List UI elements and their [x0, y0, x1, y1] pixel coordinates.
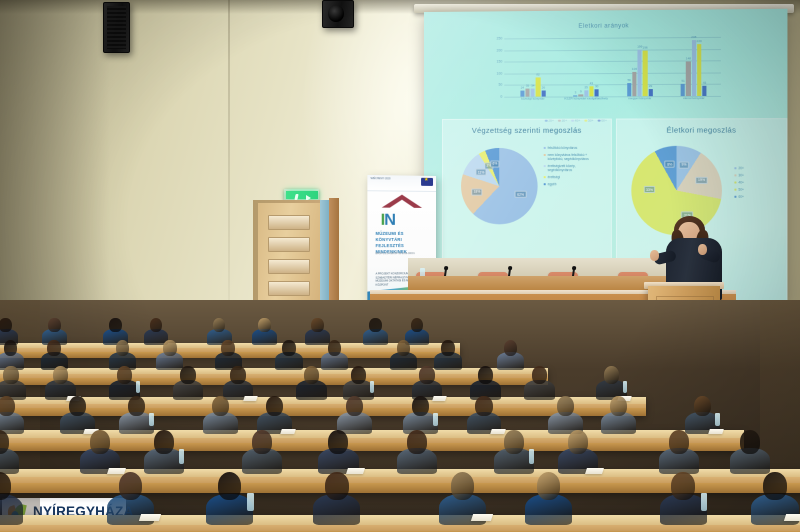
audience-member-head: [4, 340, 18, 356]
water-bottle: [433, 413, 438, 426]
category-label: városi könyvtár: [667, 97, 721, 110]
audience-member-head: [346, 396, 363, 416]
bar-value-label: 30: [595, 84, 598, 88]
water-bottle: [179, 449, 184, 464]
bar-value-label: 26: [542, 85, 545, 89]
running-man-icon: [294, 194, 298, 200]
y-axis-tick: 200: [484, 48, 502, 52]
pie-slice-label: 11%: [475, 169, 486, 176]
audience-member-head: [504, 430, 524, 454]
audience-member-head: [671, 472, 695, 500]
audience-member-head: [351, 366, 366, 384]
water-bottle: [149, 413, 154, 426]
audience-member-head: [419, 366, 434, 384]
bar-group: 2435348226: [520, 38, 545, 97]
pie-legend-item: nem könyvtáros felsőfokú + középfokú, se…: [544, 153, 601, 161]
audience-member-head: [604, 366, 619, 384]
audience-member-head: [504, 340, 518, 356]
audience-member-head: [3, 366, 18, 384]
eu-flag-icon: [421, 178, 433, 186]
legend-swatch: [544, 183, 546, 185]
desk-surface: [0, 368, 548, 374]
pie-slice-label: 33%: [643, 186, 655, 193]
brand-letter-n: N: [384, 212, 395, 229]
wall-seam: [228, 0, 230, 318]
wall-left-shadow: [0, 0, 110, 330]
pie-legend-item: 30+: [734, 173, 744, 177]
audience-member-head: [117, 366, 132, 384]
audience-member-head: [369, 318, 381, 332]
handout-paper: [139, 514, 161, 521]
water-bottle: [136, 381, 140, 393]
bar-value-label: 35: [526, 83, 529, 87]
bar-value-label: 196: [643, 45, 648, 49]
audience-desk-row: [0, 397, 646, 416]
legend-label: nem könyvtáros felsőfokú + középfokú, se…: [548, 153, 601, 161]
bar: 34: [531, 89, 535, 97]
bar-value-label: 43: [703, 81, 706, 85]
audience-member-head: [69, 396, 86, 416]
audience-member-head: [740, 430, 760, 454]
legend-label: egyéb: [548, 182, 557, 186]
audience-member-head: [221, 340, 235, 356]
legend-label: 30+: [738, 173, 744, 177]
speaker-grille: [107, 6, 126, 49]
handout-paper: [708, 429, 724, 434]
legend-label: 50+: [738, 188, 744, 192]
audience-member-head: [328, 430, 348, 454]
audience-member-head: [53, 366, 68, 384]
house-roof-inner: [387, 200, 417, 210]
audience-member-head: [230, 366, 245, 384]
door-panel: [268, 215, 310, 230]
audience-member-head: [325, 472, 349, 500]
y-axis-tick: 250: [484, 36, 502, 40]
pie-left-title: Végzettség szerinti megoszlás: [443, 126, 611, 135]
bar: 51: [681, 84, 685, 96]
legend-swatch: [734, 167, 736, 169]
presenter-hand-right: [698, 244, 707, 255]
presenter-hand-left: [650, 250, 659, 261]
audience-member-head: [532, 366, 547, 384]
y-axis-tick: 100: [484, 71, 502, 75]
audience-member-head: [475, 396, 492, 416]
bar: 238: [692, 40, 696, 96]
door-panel: [268, 259, 310, 274]
pie-legend-item: 50+: [734, 188, 744, 192]
desk-front: [0, 408, 646, 416]
pie-legend-item: 60+: [734, 195, 744, 199]
audience-member-head: [282, 340, 296, 356]
bar-group: 39254330: [573, 38, 598, 97]
bar-value-label: 9: [580, 89, 582, 93]
bar: 43: [702, 86, 706, 96]
audience-member-head: [412, 396, 429, 416]
legend-label: érettségi: [548, 175, 560, 179]
legend-swatch: [734, 181, 736, 183]
bar-value-label: 220: [697, 39, 702, 43]
bar: 82: [536, 77, 540, 96]
bar: 35: [525, 88, 529, 96]
bar: 56: [627, 83, 631, 96]
bar-value-label: 82: [536, 72, 539, 76]
handout-paper: [471, 514, 493, 521]
bar-group: 5610419919629: [627, 37, 653, 96]
house-logo-icon: [382, 194, 422, 212]
bar-group: 5114823822043: [681, 37, 707, 96]
handout-paper: [490, 429, 506, 434]
legend-label: felsőfokú könyvtáros: [548, 146, 578, 150]
audience-member-head: [311, 318, 323, 332]
audience-member-head: [557, 396, 574, 416]
bar: 196: [643, 50, 647, 96]
banner-header-strip: SZÉCHENYI 2020: [367, 175, 436, 192]
water-bottle: [529, 449, 534, 464]
pie-legend-item: felsőfokú könyvtáros: [544, 146, 601, 150]
wall-speaker-left-icon: [103, 2, 130, 53]
wall-speaker-right-icon: [322, 0, 354, 28]
bar-value-label: 104: [632, 67, 637, 71]
bar: 199: [638, 49, 642, 96]
handout-paper: [585, 468, 603, 474]
water-bottle: [623, 381, 627, 393]
lecture-hall-photo: Életkori arányok 050100150200250 2435348…: [0, 0, 800, 532]
audience-member-head: [150, 318, 162, 332]
bar-value-label: 148: [686, 56, 691, 60]
audience-member-head: [119, 472, 143, 500]
audience-member-head: [537, 472, 561, 500]
door-panel: [268, 237, 310, 252]
audience-member-head: [441, 340, 455, 356]
bar-chart-groups: 2435348226392543305610419919629511482382…: [506, 37, 721, 97]
bar-value-label: 3: [575, 91, 577, 95]
pie-left-legend: felsőfokú könyvtárosnem könyvtáros felső…: [544, 146, 601, 189]
legend-swatch: [544, 147, 546, 149]
water-bottle: [701, 493, 707, 511]
audience-member-head: [694, 396, 711, 416]
bar: 148: [686, 61, 690, 96]
banner-top-note: SZÉCHENYI 2020: [370, 178, 390, 181]
audience-member-head: [407, 430, 427, 454]
bar: 29: [648, 89, 652, 96]
bar-value-label: 29: [649, 84, 652, 88]
audience-member-head: [328, 340, 342, 356]
bar: 220: [697, 44, 701, 96]
audience-member-head: [610, 396, 627, 416]
audience-member-head: [258, 318, 270, 332]
bar-value-label: 24: [521, 86, 524, 90]
pie-slice-label: 8%: [665, 161, 675, 168]
audience-member-head: [212, 396, 229, 416]
water-bottle: [715, 413, 720, 426]
audience-member-head: [116, 340, 130, 356]
bar-value-label: 43: [590, 81, 593, 85]
legend-label: 40+: [738, 180, 744, 184]
legend-label: érettségizett közép, segédkönyvtáros: [548, 164, 601, 172]
legend-label: 20+: [738, 166, 744, 170]
audience-member-head: [0, 318, 12, 332]
water-bottle: [247, 493, 253, 511]
bar-value-label: 56: [627, 78, 630, 82]
legend-swatch: [734, 174, 736, 176]
y-axis-tick: 0: [484, 95, 502, 99]
bar: 43: [589, 86, 593, 96]
y-axis-tick: 150: [484, 60, 502, 64]
pie-slice-label: 62%: [515, 191, 527, 198]
audience-member-head: [411, 318, 423, 332]
legend-swatch: [734, 189, 736, 191]
pie-legend-item: egyéb: [544, 182, 601, 186]
pie-slice-label: 19%: [696, 176, 708, 183]
audience-member-head: [163, 340, 177, 356]
legend-label: 60+: [738, 195, 744, 199]
pie-slice-label: 18%: [471, 188, 483, 195]
y-axis-tick: 50: [484, 83, 502, 87]
category-label: KSZR könyvtári szolgáltatóhely: [560, 97, 613, 110]
audience-member-head: [568, 430, 588, 454]
bar-value-label: 51: [681, 79, 684, 83]
audience-desk-row: [0, 368, 548, 385]
bar-chart-category-labels: községi könyvtárKSZR könyvtári szolgálta…: [506, 97, 721, 111]
pie-legend-item: érettségi: [544, 175, 601, 179]
category-label: megyei könyvtár: [613, 97, 666, 110]
legend-swatch: [544, 176, 546, 178]
exit-sign-glow: [286, 191, 318, 199]
handout-paper: [280, 429, 296, 434]
speaker-cone: [328, 5, 344, 22]
audience-member-head: [90, 430, 110, 454]
audience-member-head: [763, 472, 787, 500]
pie-slice-label: 6%: [490, 160, 500, 167]
desk-front: [0, 378, 548, 385]
audience-member-head: [669, 430, 689, 454]
audience-member-head: [252, 430, 272, 454]
audience-member-head: [47, 340, 61, 356]
door-panel: [268, 281, 310, 296]
pie-legend-item: érettségizett közép, segédkönyvtáros: [544, 164, 601, 172]
bar-chart: 050100150200250 243534822639254330561041…: [484, 37, 725, 111]
audience-member-head: [109, 318, 121, 332]
bar: 104: [632, 72, 636, 96]
audience-member-head: [154, 430, 174, 454]
audience-member-head: [48, 318, 60, 332]
banner-subtitle: EFOP-3.3.3-VEKOP-16-2016-00001: [376, 252, 430, 256]
water-bottle: [370, 381, 374, 393]
audience-member-head: [304, 366, 319, 384]
slide-title: Életkori arányok: [426, 22, 785, 31]
pie-legend-item: 20+: [734, 166, 744, 170]
bar-value-label: 25: [584, 85, 587, 89]
pie-slice-label: 9%: [679, 161, 689, 168]
audience-member-head: [266, 396, 283, 416]
audience-member-head: [478, 366, 493, 384]
audience-member-head: [397, 340, 411, 356]
handout-paper: [346, 468, 364, 474]
banner-brandmark: IN: [381, 212, 395, 230]
handout-paper: [432, 396, 446, 401]
legend-swatch: [544, 154, 546, 156]
bar-value-label: 34: [531, 84, 534, 88]
audience-member-head: [218, 472, 242, 500]
audience-member-head: [180, 366, 195, 384]
pie-legend-item: 40+: [734, 180, 744, 184]
legend-swatch: [544, 165, 546, 167]
handout-paper: [243, 396, 257, 401]
audience-member-head: [451, 472, 475, 500]
legend-swatch: [734, 196, 736, 198]
handout-paper: [784, 514, 800, 521]
audience-member-head: [128, 396, 145, 416]
bar: 30: [595, 89, 599, 96]
category-label: községi könyvtár: [507, 98, 560, 111]
audience-member-head: [0, 396, 15, 416]
pie-right-title: Életkori megoszlás: [617, 125, 786, 134]
handout-paper: [107, 468, 125, 474]
pie-right-legend: 20+30+40+50+60+: [734, 166, 744, 202]
